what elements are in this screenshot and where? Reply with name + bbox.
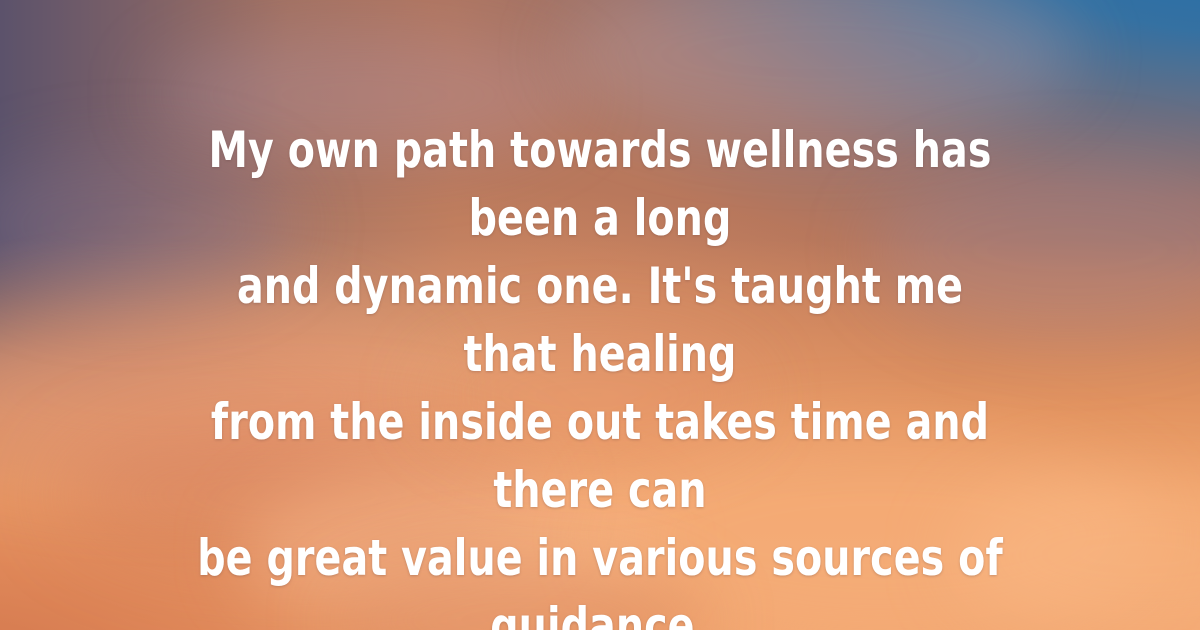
quote-text: My own path towards wellness has been a … (191, 116, 1009, 630)
quote-card: My own path towards wellness has been a … (0, 0, 1200, 630)
card-content: My own path towards wellness has been a … (0, 0, 1200, 630)
